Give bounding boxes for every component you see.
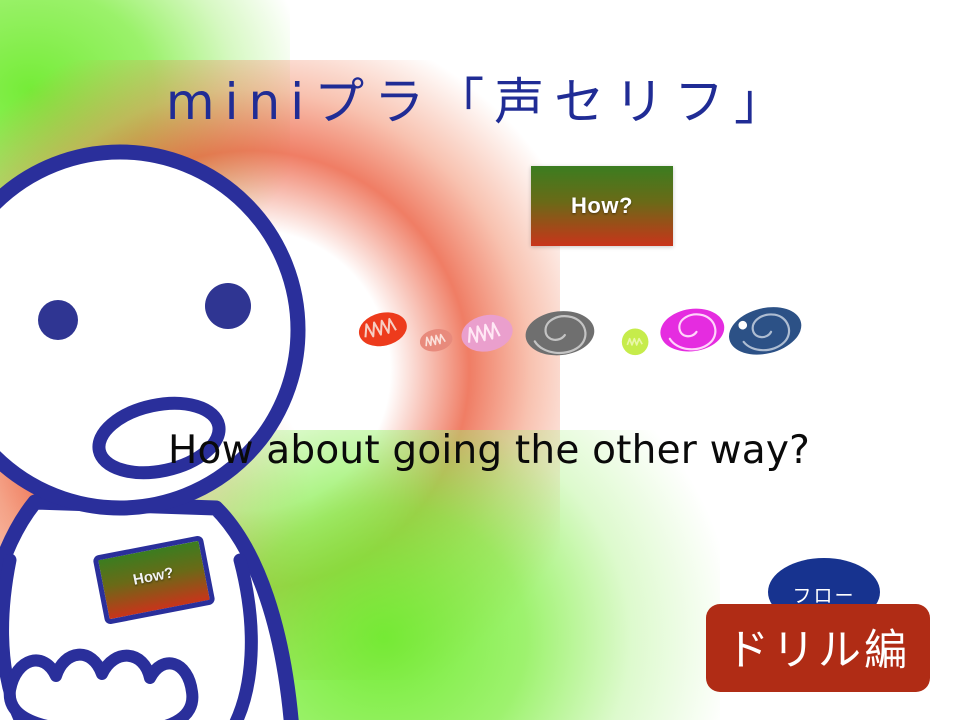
main-sentence: How about going the other way? xyxy=(0,428,960,473)
how-card-held-label: How? xyxy=(132,564,175,588)
slide-canvas: How? miniプラ「声セリフ」 How? xyxy=(0,0,960,720)
ellipse-pink xyxy=(458,310,516,356)
how-card-main: How? xyxy=(531,166,673,246)
ellipse-magenta xyxy=(658,305,727,356)
character-hands xyxy=(10,655,193,720)
series-badge: フロー ドリル編 xyxy=(706,558,946,698)
badge-main-rect: ドリル編 xyxy=(706,604,930,692)
ellipse-navy xyxy=(724,300,806,362)
ellipse-salmon xyxy=(418,326,454,354)
page-title: miniプラ「声セリフ」 xyxy=(0,62,960,134)
character-illustration xyxy=(0,130,360,720)
character-left-eye xyxy=(38,300,78,340)
character-right-eye xyxy=(205,283,251,329)
how-card-main-label: How? xyxy=(571,193,633,219)
badge-main-label: ドリル編 xyxy=(726,616,910,678)
ellipse-yellowgreen xyxy=(622,329,649,356)
ellipse-row xyxy=(350,288,820,380)
ellipse-red xyxy=(356,308,411,351)
ellipse-gray xyxy=(523,308,596,359)
